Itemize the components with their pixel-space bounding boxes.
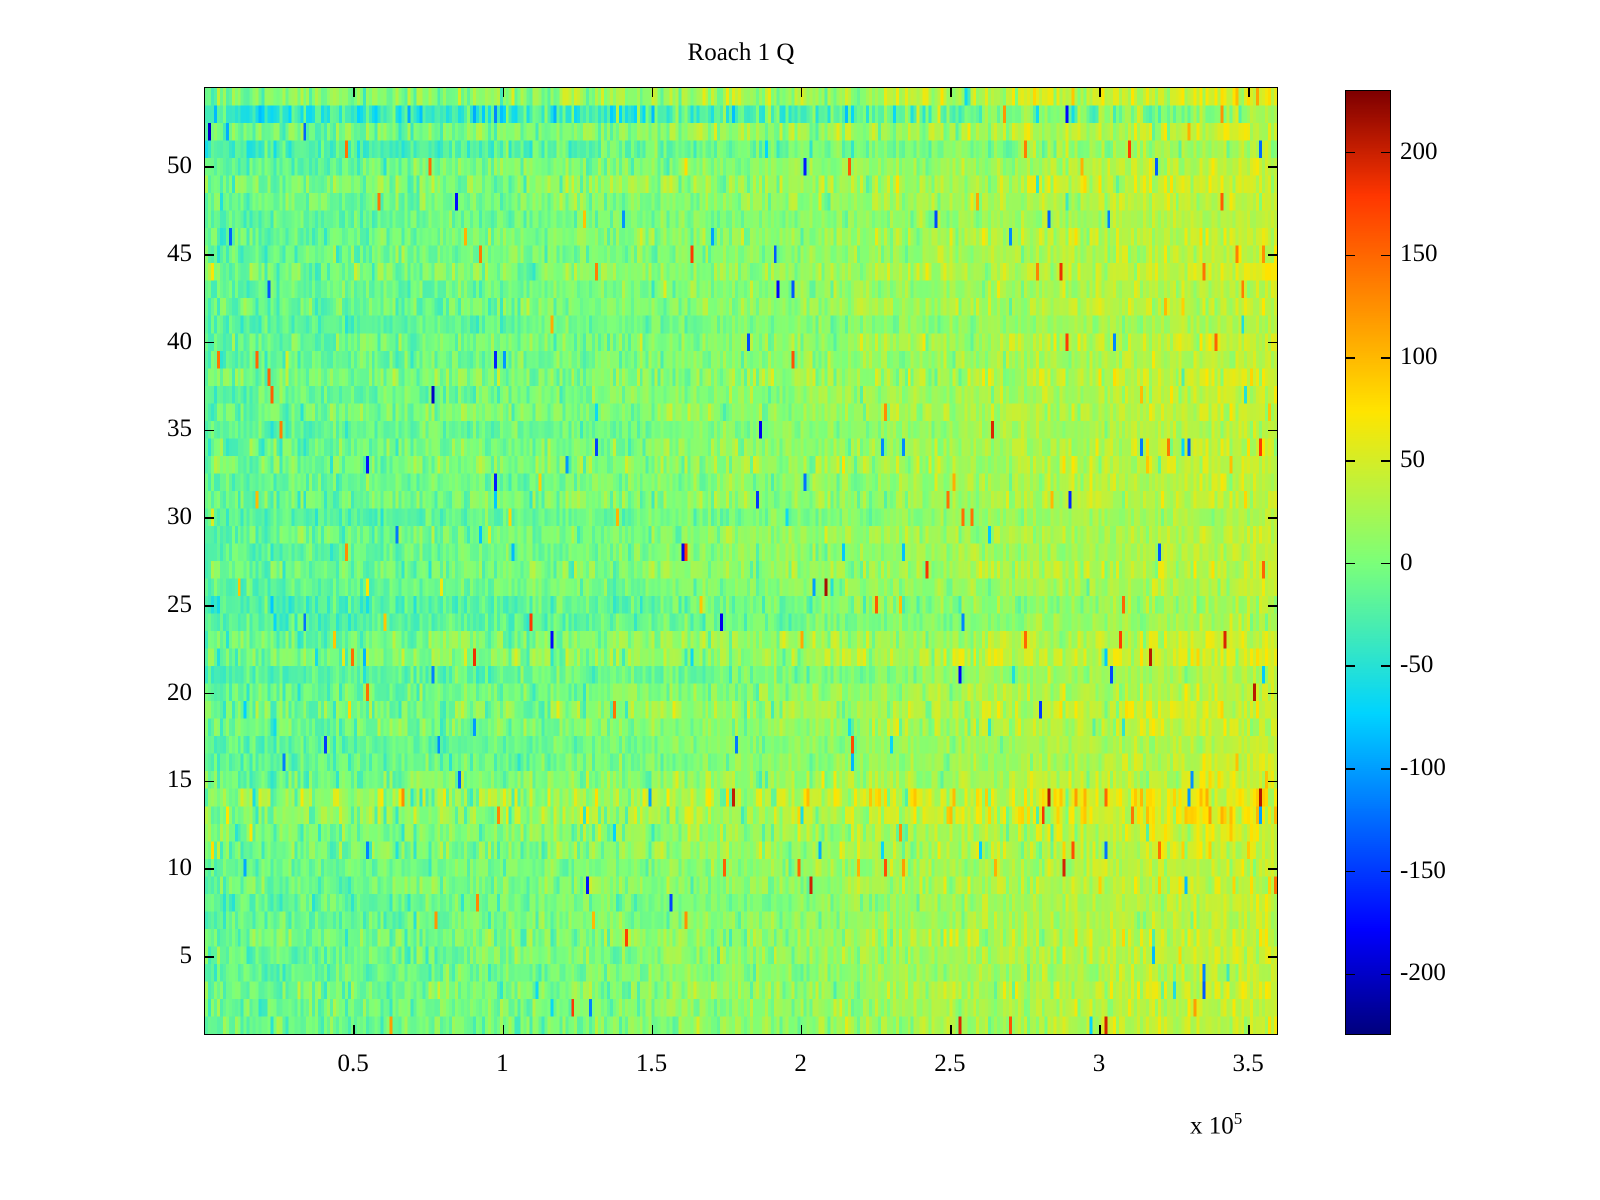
y-tick-label: 10 — [122, 855, 192, 880]
x-tick-label: 3.5 — [1188, 1051, 1308, 1076]
y-tick-mark — [1268, 430, 1277, 432]
heatmap-axes[interactable] — [204, 87, 1278, 1035]
y-tick-mark — [205, 342, 214, 344]
y-tick-mark — [205, 517, 214, 519]
x-tick-mark — [1099, 88, 1101, 97]
x-tick-mark — [652, 88, 654, 97]
colorbar-tick-mark — [1346, 768, 1355, 770]
colorbar-tick-mark — [1346, 563, 1355, 565]
y-tick-label: 20 — [122, 680, 192, 705]
x-multiplier-text: x 10 — [1190, 1112, 1234, 1139]
heatmap-image — [205, 88, 1277, 1034]
colorbar-tick-mark — [1346, 255, 1355, 257]
x-tick-mark — [801, 1025, 803, 1034]
y-tick-label: 45 — [122, 241, 192, 266]
x-tick-mark — [950, 1025, 952, 1034]
y-tick-mark — [205, 605, 214, 607]
colorbar-tick-mark — [1346, 974, 1355, 976]
x-tick-mark — [353, 1025, 355, 1034]
x-tick-mark — [1248, 88, 1250, 97]
y-tick-label: 15 — [122, 767, 192, 792]
colorbar-tick-mark — [1381, 665, 1390, 667]
x-tick-mark — [1248, 1025, 1250, 1034]
x-tick-label: 0.5 — [293, 1051, 413, 1076]
colorbar-tick-mark — [1381, 460, 1390, 462]
colorbar-tick-label: 50 — [1400, 447, 1520, 472]
y-tick-mark — [205, 430, 214, 432]
y-tick-mark — [1268, 254, 1277, 256]
colorbar-tick-mark — [1346, 357, 1355, 359]
x-multiplier-exponent: 5 — [1234, 1109, 1243, 1128]
y-tick-label: 30 — [122, 504, 192, 529]
y-tick-mark — [205, 956, 214, 958]
colorbar-tick-label: -100 — [1400, 755, 1520, 780]
colorbar-tick-mark — [1346, 665, 1355, 667]
x-tick-mark — [353, 88, 355, 97]
colorbar-tick-label: -150 — [1400, 858, 1520, 883]
colorbar-tick-mark — [1381, 871, 1390, 873]
y-tick-label: 5 — [122, 943, 192, 968]
x-axis-exponent-label: x 105 — [1190, 1106, 1242, 1138]
y-tick-mark — [205, 254, 214, 256]
y-tick-label: 35 — [122, 416, 192, 441]
y-tick-label: 50 — [122, 153, 192, 178]
x-tick-label: 2.5 — [890, 1051, 1010, 1076]
colorbar-tick-mark — [1381, 357, 1390, 359]
colorbar-tick-label: 150 — [1400, 241, 1520, 266]
colorbar[interactable] — [1345, 90, 1391, 1035]
colorbar-tick-label: 0 — [1400, 550, 1520, 575]
colorbar-tick-mark — [1381, 768, 1390, 770]
colorbar-tick-mark — [1346, 871, 1355, 873]
colorbar-tick-mark — [1381, 974, 1390, 976]
colorbar-tick-label: -200 — [1400, 960, 1520, 985]
colorbar-tick-mark — [1381, 563, 1390, 565]
y-tick-label: 25 — [122, 592, 192, 617]
colorbar-tick-mark — [1381, 255, 1390, 257]
colorbar-tick-mark — [1381, 152, 1390, 154]
y-tick-mark — [1268, 342, 1277, 344]
y-tick-mark — [205, 693, 214, 695]
x-tick-mark — [801, 88, 803, 97]
x-tick-mark — [652, 1025, 654, 1034]
x-tick-mark — [503, 1025, 505, 1034]
x-tick-label: 3 — [1039, 1051, 1159, 1076]
y-tick-mark — [1268, 693, 1277, 695]
matlab-figure-window: Roach 1 Q 5101520253035404550 0.511.522.… — [0, 0, 1600, 1200]
colorbar-tick-label: 200 — [1400, 139, 1520, 164]
y-tick-mark — [1268, 605, 1277, 607]
y-tick-mark — [1268, 868, 1277, 870]
y-tick-mark — [205, 166, 214, 168]
colorbar-tick-label: -50 — [1400, 652, 1520, 677]
y-tick-label: 40 — [122, 329, 192, 354]
y-tick-mark — [205, 868, 214, 870]
x-tick-label: 1.5 — [592, 1051, 712, 1076]
y-tick-mark — [205, 781, 214, 783]
chart-title: Roach 1 Q — [204, 38, 1278, 68]
colorbar-tick-mark — [1346, 152, 1355, 154]
colorbar-tick-label: 100 — [1400, 344, 1520, 369]
x-tick-label: 1 — [442, 1051, 562, 1076]
y-tick-mark — [1268, 517, 1277, 519]
x-tick-mark — [1099, 1025, 1101, 1034]
y-tick-mark — [1268, 956, 1277, 958]
x-tick-label: 2 — [741, 1051, 861, 1076]
x-tick-mark — [503, 88, 505, 97]
colorbar-tick-mark — [1346, 460, 1355, 462]
x-tick-mark — [950, 88, 952, 97]
y-tick-mark — [1268, 781, 1277, 783]
y-tick-mark — [1268, 166, 1277, 168]
